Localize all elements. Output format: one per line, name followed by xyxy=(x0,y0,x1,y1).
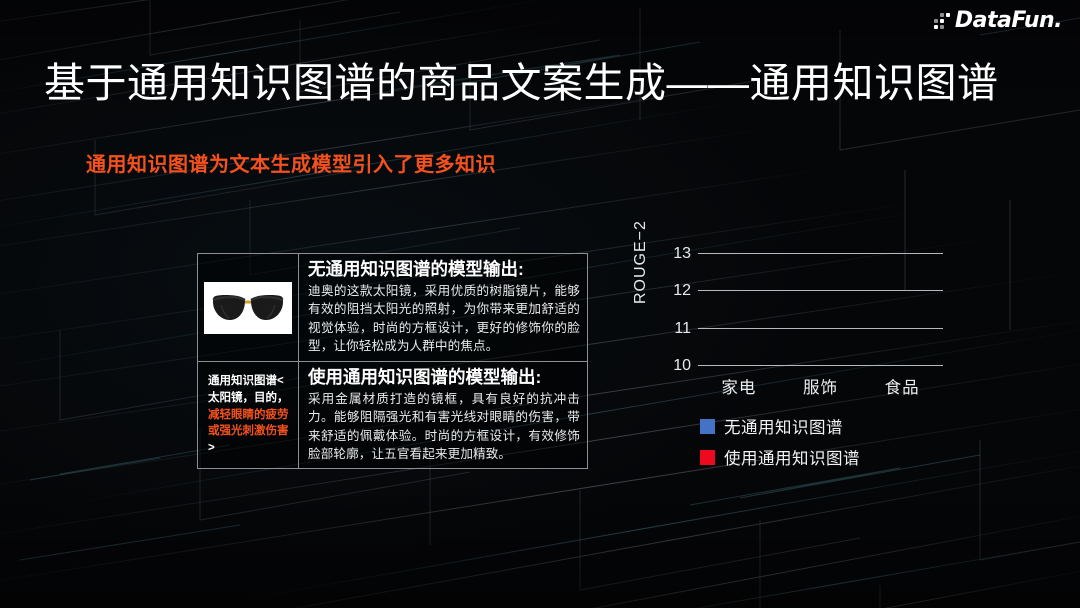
chart-plot-area: 10111213 xyxy=(698,254,943,366)
kg-triple-title: 通用知识图谱 xyxy=(208,375,277,387)
chart-y-tick: 11 xyxy=(674,320,691,338)
chart-legend-swatch xyxy=(700,450,715,465)
chart-x-axis-labels: 家电服饰食品 xyxy=(698,374,943,398)
chart-legend-item: 无通用知识图谱 xyxy=(700,414,860,438)
chart-legend-label: 无通用知识图谱 xyxy=(724,414,843,438)
table-cell-output-no-kg: 无通用知识图谱的模型输出: 迪奥的这款太阳镜，采用优质的树脂镜片，能够有效的阻挡… xyxy=(299,254,587,361)
kg-triple-highlight: 减轻眼睛的疲劳或强光刺激伤害 xyxy=(208,409,289,438)
chart-bars xyxy=(698,254,943,366)
chart-legend-swatch xyxy=(700,419,715,434)
chart-y-axis-label: ROUGE−2 xyxy=(632,220,650,304)
slide-canvas: DataFun. 基于通用知识图谱的商品文案生成——通用知识图谱 通用知识图谱为… xyxy=(0,0,1080,608)
output-body-with-kg: 采用金属材质打造的镜框，具有良好的抗冲击力。能够阻隔强光和有害光线对眼睛的伤害，… xyxy=(308,390,580,463)
chart-y-tick: 12 xyxy=(673,282,691,300)
chart-legend: 无通用知识图谱使用通用知识图谱 xyxy=(700,414,860,476)
datafun-logo: DataFun. xyxy=(934,8,1062,33)
table-row: 无通用知识图谱的模型输出: 迪奥的这款太阳镜，采用优质的树脂镜片，能够有效的阻挡… xyxy=(198,254,587,361)
table-cell-output-with-kg: 使用通用知识图谱的模型输出: 采用金属材质打造的镜框，具有良好的抗冲击力。能够阻… xyxy=(299,362,587,468)
kg-triple-post: > xyxy=(208,442,215,454)
comparison-table: 无通用知识图谱的模型输出: 迪奥的这款太阳镜，采用优质的树脂镜片，能够有效的阻挡… xyxy=(197,253,588,469)
table-cell-kg-triple: 通用知识图谱<太阳镜，目的，减轻眼睛的疲劳或强光刺激伤害> xyxy=(198,362,299,468)
chart-y-tick: 13 xyxy=(673,245,691,263)
page-title: 基于通用知识图谱的商品文案生成——通用知识图谱 xyxy=(44,58,999,109)
brand-wordmark: DataFun. xyxy=(955,8,1062,33)
kg-triple-text: 通用知识图谱<太阳镜，目的，减轻眼睛的疲劳或强光刺激伤害> xyxy=(202,371,294,458)
rouge2-bar-chart: ROUGE−2 10111213 家电服饰食品 无通用知识图谱使用通用知识图谱 xyxy=(636,248,1006,478)
output-body-no-kg: 迪奥的这款太阳镜，采用优质的树脂镜片，能够有效的阻挡太阳光的照射，为你带来更加舒… xyxy=(308,282,580,355)
chart-legend-label: 使用通用知识图谱 xyxy=(724,445,860,469)
output-heading-no-kg: 无通用知识图谱的模型输出: xyxy=(308,259,580,280)
table-cell-product-image xyxy=(198,254,299,361)
chart-legend-item: 使用通用知识图谱 xyxy=(700,445,860,469)
chart-x-label: 食品 xyxy=(885,374,920,398)
output-heading-with-kg: 使用通用知识图谱的模型输出: xyxy=(308,367,580,388)
page-subtitle: 通用知识图谱为文本生成模型引入了更多知识 xyxy=(86,152,496,178)
sunglasses-glyph xyxy=(204,282,292,334)
table-row: 通用知识图谱<太阳镜，目的，减轻眼睛的疲劳或强光刺激伤害> 使用通用知识图谱的模… xyxy=(198,361,587,468)
chart-x-label: 家电 xyxy=(721,374,756,398)
sunglasses-icon xyxy=(204,282,292,334)
chart-x-label: 服饰 xyxy=(803,374,838,398)
chart-y-tick: 10 xyxy=(673,357,691,375)
datafun-logo-icon xyxy=(934,13,950,29)
